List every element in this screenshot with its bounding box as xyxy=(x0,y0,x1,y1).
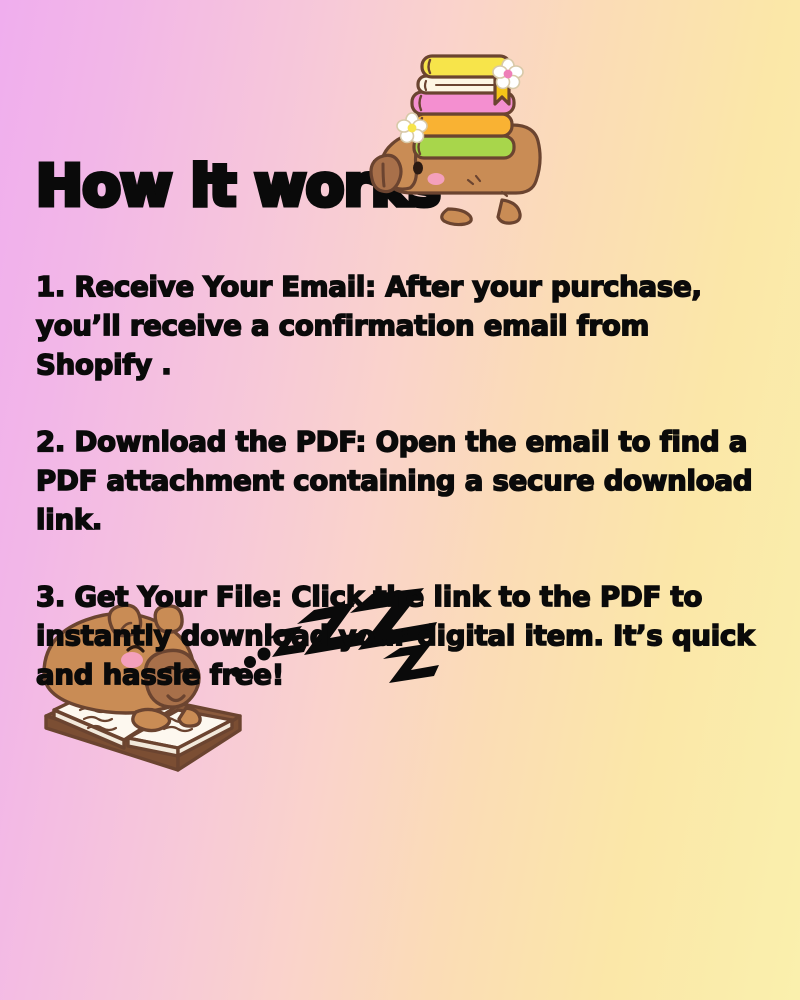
step-item-1: 1. Receive Your Email: After your purcha… xyxy=(36,268,762,385)
steps-list: 1. Receive Your Email: After your purcha… xyxy=(36,268,762,695)
orange-book xyxy=(414,114,512,136)
step-item-3: 3. Get Your File: Click the link to the … xyxy=(36,578,762,695)
capybara-with-book-stack-illustration xyxy=(352,52,547,242)
poster-canvas: How it works xyxy=(0,0,800,1000)
green-book xyxy=(414,136,514,158)
step-item-2: 2. Download the PDF: Open the email to f… xyxy=(36,423,762,540)
